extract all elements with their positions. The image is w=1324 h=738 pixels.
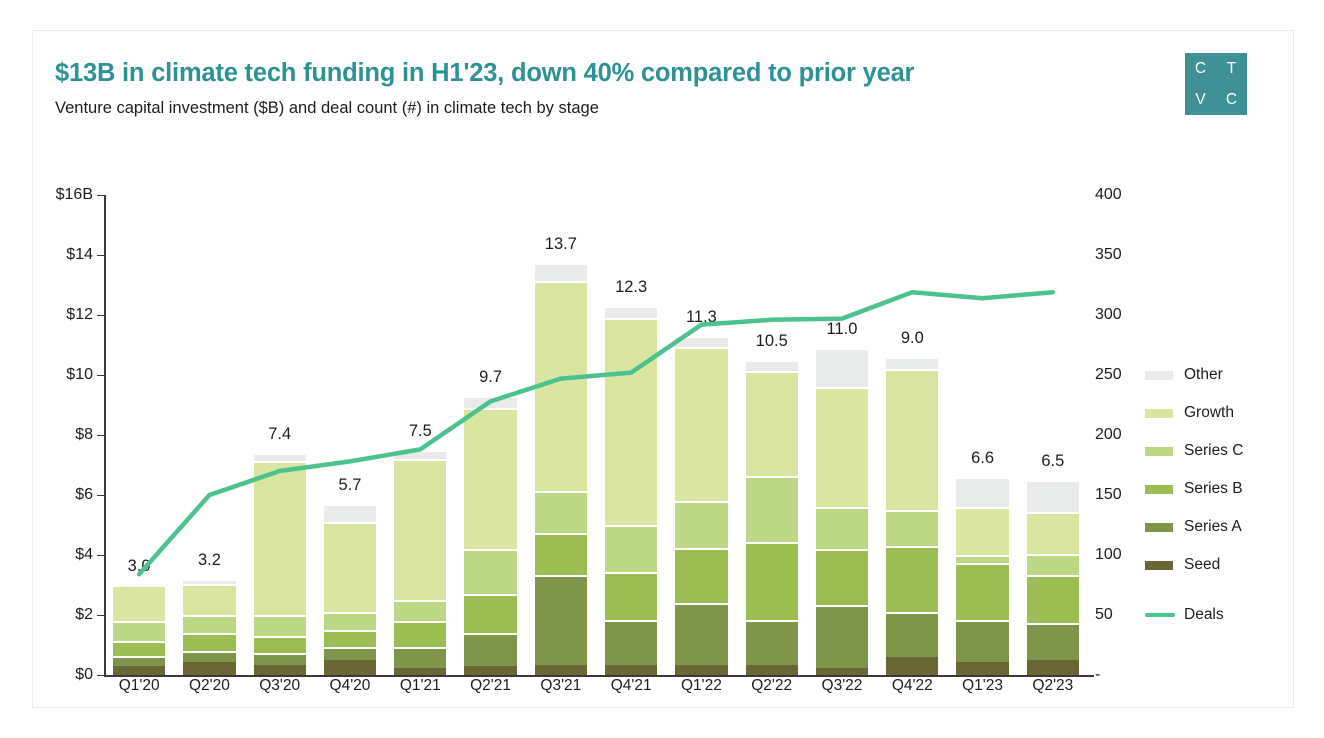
- y2-axis-tick-label: 400: [1095, 186, 1155, 204]
- legend-color-swatch: [1145, 447, 1173, 456]
- bar-segment: [886, 510, 938, 546]
- bar-segment: [183, 584, 235, 616]
- bar-column: [675, 336, 727, 675]
- bar-segment: [746, 476, 798, 542]
- bar-segment: [605, 620, 657, 665]
- bar-segment: [183, 651, 235, 662]
- bar-column: [956, 477, 1008, 675]
- legend-item-label: Series B: [1184, 480, 1243, 498]
- y2-axis-tick-label: 300: [1095, 306, 1155, 324]
- bar-segment: [113, 621, 165, 641]
- bar-segment: [675, 548, 727, 604]
- bar-segment: [324, 522, 376, 612]
- bar-segment: [956, 555, 1008, 563]
- bar-segment: [675, 347, 727, 502]
- bar-segment: [324, 660, 376, 675]
- bar-segment: [746, 360, 798, 371]
- bar-total-label: 13.7: [516, 235, 606, 254]
- bar-segment: [324, 630, 376, 647]
- bar-segment: [675, 336, 727, 347]
- bar-segment: [254, 636, 306, 653]
- bar-segment: [394, 621, 446, 647]
- bar-segment: [816, 549, 868, 605]
- legend-item[interactable]: Seed: [1145, 546, 1295, 584]
- y-axis-tick-label: $10: [21, 366, 93, 384]
- bar-segment: [816, 668, 868, 676]
- bar-segment: [183, 633, 235, 651]
- bar-segment: [254, 453, 306, 461]
- y-axis-tick-label: $14: [21, 246, 93, 264]
- bar-segment: [394, 459, 446, 600]
- bar-segment: [956, 477, 1008, 507]
- bar-segment: [394, 668, 446, 676]
- bar-segment: [746, 371, 798, 476]
- y-axis-tick: [97, 375, 104, 377]
- bar-segment: [394, 647, 446, 668]
- bar-segment: [113, 656, 165, 667]
- bar-segment: [394, 600, 446, 621]
- bar-segment: [535, 281, 587, 491]
- bar-segment: [464, 594, 516, 633]
- y-axis-tick-label: $2: [21, 606, 93, 624]
- bar-segment: [746, 665, 798, 676]
- y-axis-tick-label: $16B: [21, 186, 93, 204]
- bar-total-label: 5.7: [305, 476, 395, 495]
- bar-segment: [816, 507, 868, 549]
- bar-column: [394, 450, 446, 675]
- bar-segment: [816, 605, 868, 668]
- legend-item[interactable]: Deals: [1145, 596, 1295, 634]
- bar-total-label: 11.3: [656, 308, 746, 327]
- y-axis-tick-label: $12: [21, 306, 93, 324]
- chart-plot-area: $0$2$4$6$8$10$12$14$16B -501001502002503…: [33, 31, 1295, 709]
- bar-segment: [464, 666, 516, 675]
- y2-axis-tick-label: -: [1095, 666, 1155, 684]
- legend-item[interactable]: Growth: [1145, 394, 1295, 432]
- bar-segment: [183, 579, 235, 584]
- legend-color-swatch: [1145, 409, 1173, 418]
- bar-total-label: 3.2: [164, 551, 254, 570]
- bar-segment: [746, 620, 798, 665]
- legend-item-label: Seed: [1184, 556, 1220, 574]
- bar-segment: [113, 641, 165, 656]
- bar-total-label: 7.5: [375, 422, 465, 441]
- bar-total-label: 9.0: [867, 329, 957, 348]
- bar-segment: [394, 450, 446, 459]
- bar-segment: [324, 612, 376, 630]
- bar-column: [816, 348, 868, 675]
- bar-segment: [254, 665, 306, 676]
- legend-item-label: Other: [1184, 366, 1223, 384]
- y-axis-tick: [97, 315, 104, 317]
- legend-item[interactable]: Series C: [1145, 432, 1295, 470]
- bar-segment: [254, 615, 306, 636]
- bar-segment: [746, 542, 798, 620]
- bar-column: [535, 263, 587, 676]
- bar-segment: [886, 657, 938, 675]
- bar-column: [324, 504, 376, 675]
- bar-segment: [464, 396, 516, 408]
- bar-column: [886, 357, 938, 675]
- bar-column: [113, 585, 165, 675]
- legend-color-swatch: [1145, 561, 1173, 570]
- bar-column: [746, 360, 798, 675]
- bar-segment: [605, 306, 657, 318]
- legend-item-label: Series C: [1184, 442, 1243, 460]
- legend-line-marker: [1145, 613, 1175, 617]
- bar-segment: [464, 408, 516, 549]
- bar-segment: [605, 525, 657, 572]
- bar-segment: [1027, 512, 1079, 554]
- bar-column: [183, 579, 235, 675]
- bar-segment: [605, 318, 657, 525]
- bar-segment: [675, 603, 727, 665]
- legend-color-swatch: [1145, 371, 1173, 380]
- bar-segment: [324, 647, 376, 661]
- bar-segment: [1027, 554, 1079, 575]
- bar-segment: [1027, 480, 1079, 512]
- y-axis-tick: [97, 495, 104, 497]
- legend-color-swatch: [1145, 523, 1173, 532]
- y-axis-line: [104, 195, 106, 676]
- legend-item-label: Deals: [1184, 606, 1224, 624]
- bar-segment: [113, 585, 165, 621]
- bar-segment: [675, 501, 727, 548]
- bar-segment: [886, 612, 938, 657]
- y-axis-tick: [97, 435, 104, 437]
- bar-segment: [464, 549, 516, 594]
- chart-legend: OtherGrowthSeries CSeries BSeries ASeedD…: [1145, 356, 1295, 634]
- y-axis-tick: [97, 555, 104, 557]
- y-axis-tick: [97, 615, 104, 617]
- bar-segment: [675, 665, 727, 676]
- bar-segment: [605, 665, 657, 676]
- y-axis-tick-label: $4: [21, 546, 93, 564]
- bar-column: [605, 306, 657, 675]
- y2-axis-tick-label: 350: [1095, 246, 1155, 264]
- bar-segment: [254, 653, 306, 665]
- bar-total-label: 7.4: [235, 425, 325, 444]
- x-axis-tick-label: Q2'23: [1008, 677, 1098, 695]
- y-axis-tick-label: $8: [21, 426, 93, 444]
- bar-segment: [535, 665, 587, 676]
- legend-item[interactable]: Series B: [1145, 470, 1295, 508]
- legend-item[interactable]: Other: [1145, 356, 1295, 394]
- bar-segment: [183, 615, 235, 633]
- bar-segment: [535, 263, 587, 281]
- bar-segment: [816, 348, 868, 387]
- bar-segment: [886, 369, 938, 510]
- bar-total-label: 9.7: [446, 368, 536, 387]
- bar-column: [1027, 480, 1079, 675]
- bar-segment: [886, 546, 938, 612]
- y-axis-tick: [97, 195, 104, 197]
- bar-total-label: 12.3: [586, 278, 676, 297]
- bar-segment: [1027, 660, 1079, 675]
- legend-item[interactable]: Series A: [1145, 508, 1295, 546]
- bar-segment: [956, 620, 1008, 662]
- chart-card: $13B in climate tech funding in H1'23, d…: [32, 30, 1294, 708]
- bar-segment: [324, 504, 376, 522]
- y-axis-tick-label: $0: [21, 666, 93, 684]
- bar-segment: [605, 572, 657, 620]
- bar-segment: [535, 575, 587, 665]
- y-axis-tick: [97, 255, 104, 257]
- bar-segment: [464, 633, 516, 666]
- y-axis-tick-label: $6: [21, 486, 93, 504]
- bar-segment: [956, 507, 1008, 555]
- bar-column: [254, 453, 306, 675]
- bar-segment: [183, 662, 235, 676]
- legend-item-label: Series A: [1184, 518, 1242, 536]
- bar-segment: [1027, 623, 1079, 661]
- bar-total-label: 6.5: [1008, 452, 1098, 471]
- bar-segment: [1027, 575, 1079, 623]
- legend-item-label: Growth: [1184, 404, 1234, 422]
- bar-segment: [886, 357, 938, 369]
- y-axis-tick: [97, 675, 104, 677]
- bar-segment: [113, 666, 165, 675]
- x-axis-line: [104, 675, 1094, 677]
- bar-segment: [816, 387, 868, 507]
- bar-segment: [535, 533, 587, 575]
- bar-segment: [956, 563, 1008, 620]
- legend-color-swatch: [1145, 485, 1173, 494]
- bar-segment: [956, 662, 1008, 676]
- bar-column: [464, 396, 516, 675]
- bar-segment: [254, 461, 306, 616]
- bar-segment: [535, 491, 587, 533]
